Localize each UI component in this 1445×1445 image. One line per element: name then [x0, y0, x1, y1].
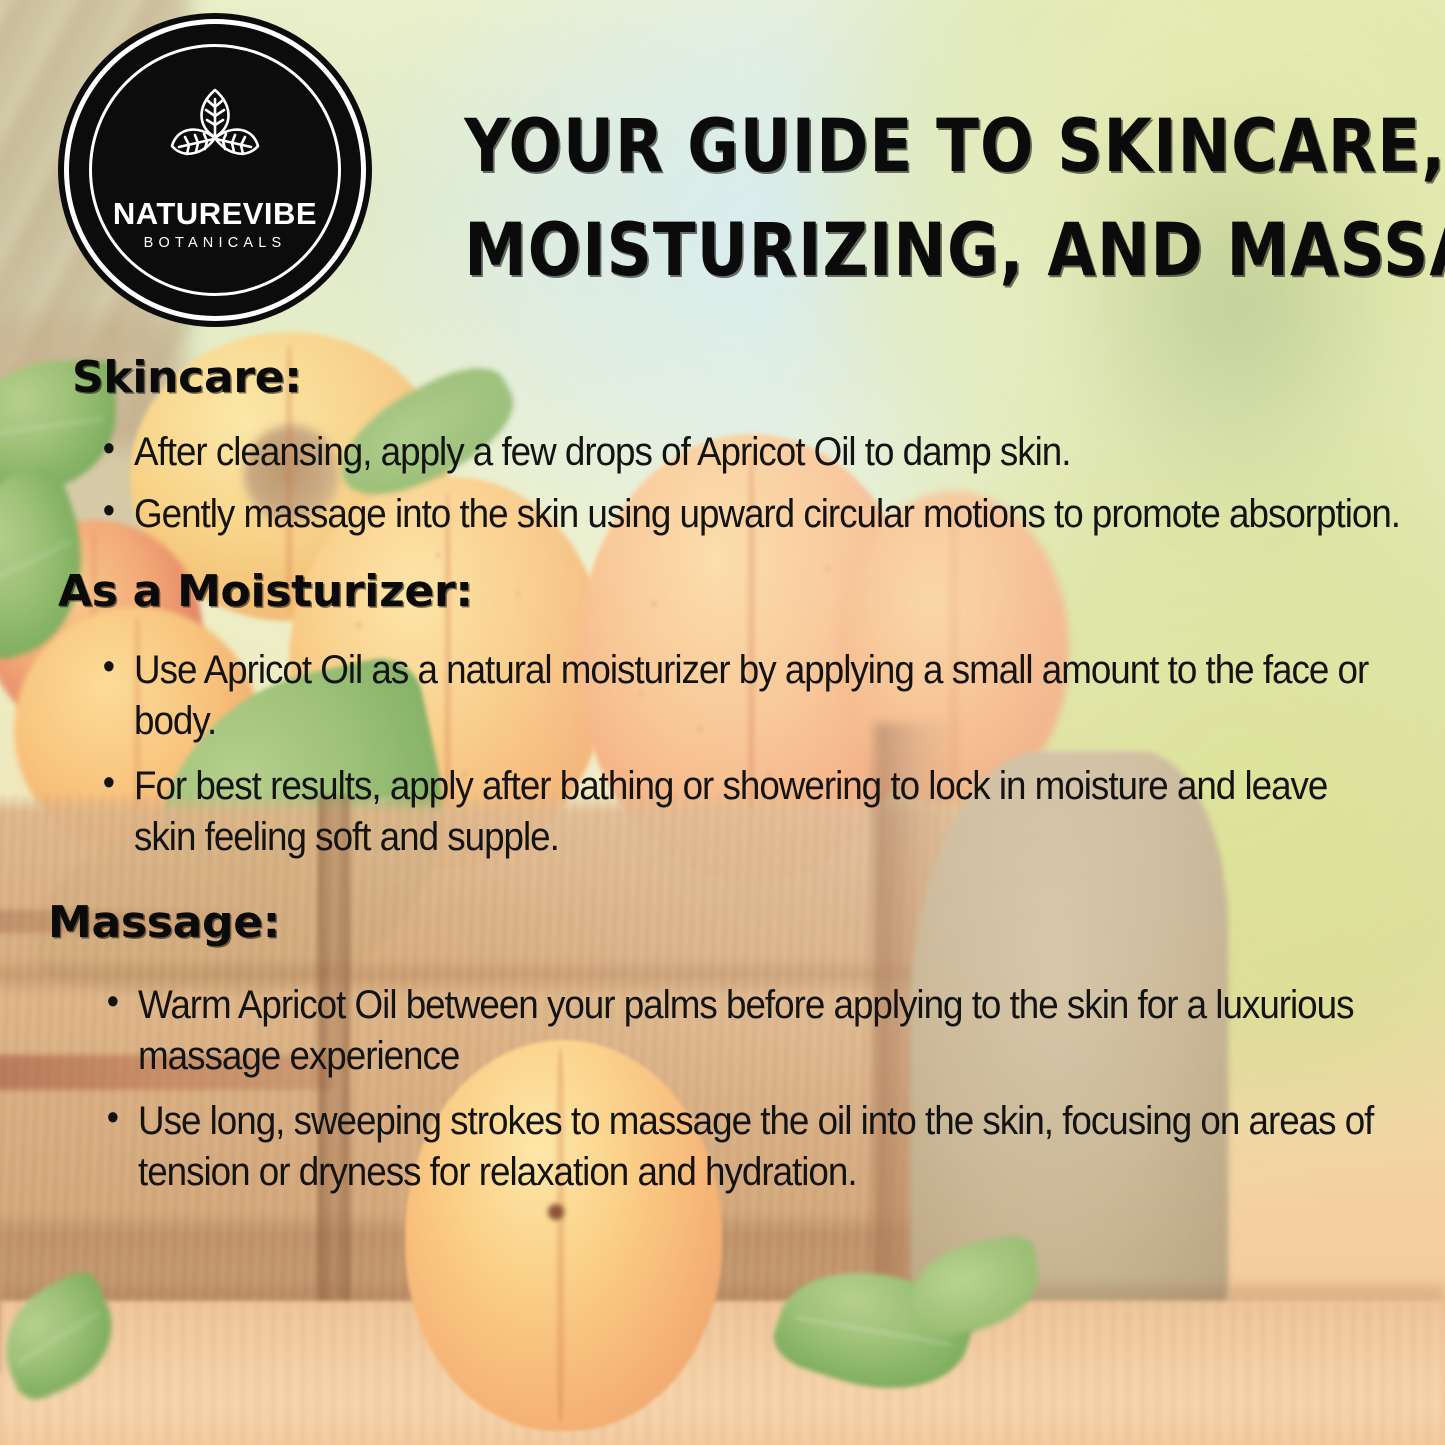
- content-body: Skincare: After cleansing, apply a few d…: [0, 355, 1445, 1212]
- brand-logo[interactable]: NATUREVIBE BOTANICALS: [75, 30, 355, 310]
- bullet-list-massage: Warm Apricot Oil between your palms befo…: [138, 980, 1445, 1199]
- logo-inner-ring: [89, 44, 341, 296]
- section-moisturizer: As a Moisturizer: Use Apricot Oil as a n…: [58, 569, 1445, 864]
- section-skincare: Skincare: After cleansing, apply a few d…: [72, 355, 1445, 541]
- title-line-2: MOISTURIZING, AND MASSAGE: [464, 199, 1315, 303]
- infographic-card: NATUREVIBE BOTANICALS YOUR GUIDE TO SKIN…: [0, 0, 1445, 1445]
- bullet-list-moisturizer: Use Apricot Oil as a natural moisturizer…: [134, 645, 1445, 864]
- section-heading-moisturizer: As a Moisturizer:: [58, 569, 1445, 615]
- list-item: Warm Apricot Oil between your palms befo…: [138, 980, 1398, 1082]
- title-line-1: YOUR GUIDE TO SKINCARE,: [464, 95, 1315, 199]
- page-title: YOUR GUIDE TO SKINCARE, MOISTURIZING, AN…: [464, 95, 1315, 302]
- list-item: Gently massage into the skin using upwar…: [134, 489, 1404, 540]
- section-massage: Massage: Warm Apricot Oil between your p…: [48, 900, 1445, 1199]
- list-item: For best results, apply after bathing or…: [134, 761, 1394, 863]
- bullet-list-skincare: After cleansing, apply a few drops of Ap…: [134, 427, 1445, 540]
- list-item: Use long, sweeping strokes to massage th…: [138, 1096, 1398, 1198]
- list-item: Use Apricot Oil as a natural moisturizer…: [134, 645, 1394, 747]
- list-item: After cleansing, apply a few drops of Ap…: [134, 427, 1404, 478]
- section-heading-massage: Massage:: [48, 900, 1445, 946]
- section-heading-skincare: Skincare:: [72, 355, 1445, 401]
